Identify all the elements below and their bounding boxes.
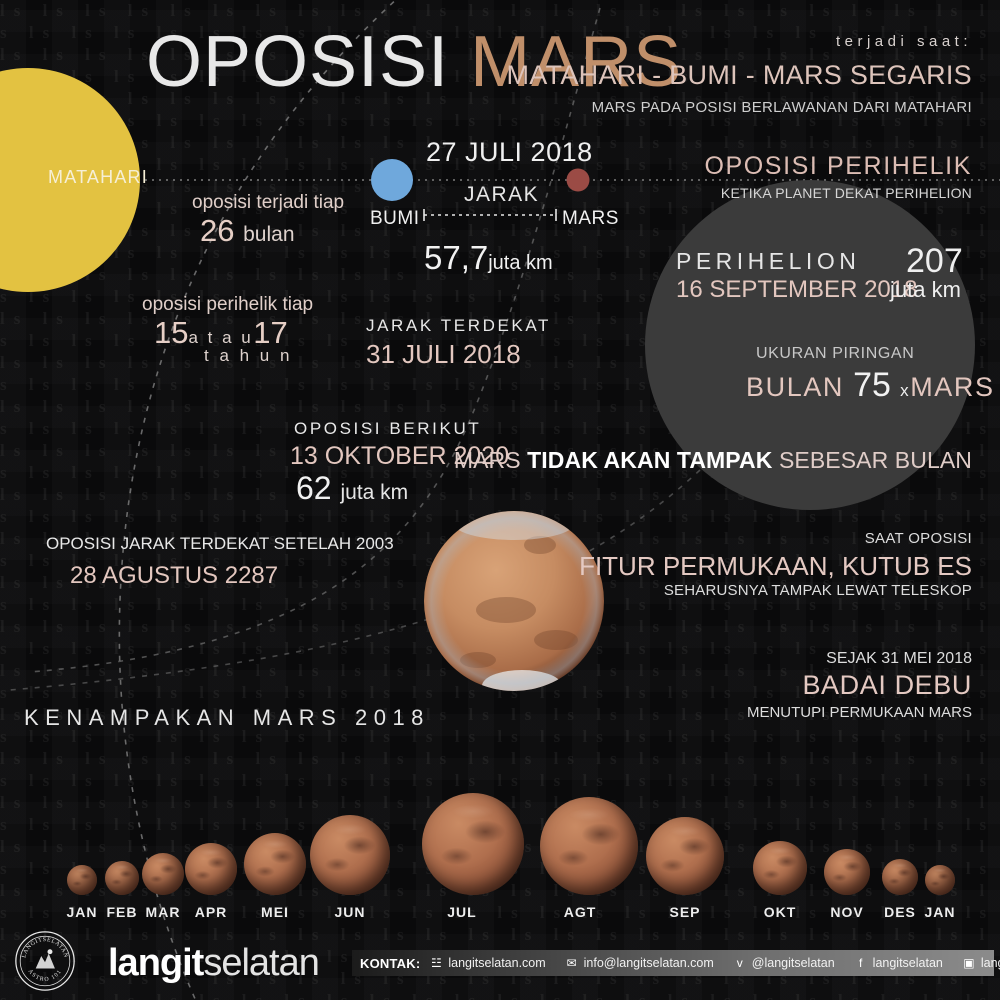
contact-item[interactable]: ☳langitselatan.com: [429, 956, 545, 970]
mars-disc: [925, 865, 955, 895]
kontak-label: KONTAK:: [360, 956, 420, 971]
rss-icon: ☳: [429, 956, 443, 970]
contact-text: langitselatan.com: [448, 956, 545, 970]
surface-features-heading: FITUR PERMUKAAN, KUTUB ES: [579, 551, 972, 582]
contact-item[interactable]: ▣langitselatanmedia: [962, 956, 1000, 970]
contact-item[interactable]: ᴠ@langitselatan: [733, 956, 835, 970]
logo-ring-top-text: LANGITSELATAN: [21, 937, 68, 959]
mail-icon: ✉: [565, 956, 579, 970]
month-slot: JUN: [310, 815, 390, 920]
mars-disc: [185, 843, 237, 895]
langitselatan-logo-icon: LANGITSELATAN ASTRO 101: [14, 930, 76, 992]
mars-disc: [540, 797, 638, 895]
month-slot: JAN: [900, 865, 980, 920]
contact-text: langitselatanmedia: [981, 956, 1000, 970]
mars-disc: [646, 817, 724, 895]
month-label: MEI: [235, 904, 315, 920]
dust-storm-sub: MENUTUPI PERMUKAAN MARS: [747, 704, 972, 721]
contact-text: @langitselatan: [752, 956, 835, 970]
month-slot: SEP: [645, 817, 725, 920]
mars-disc: [310, 815, 390, 895]
surface-features-sub: SEHARUSNYA TAMPAK LEWAT TELESKOP: [664, 582, 972, 599]
mars-disc: [753, 841, 807, 895]
contact-item[interactable]: flangitselatan: [854, 956, 943, 970]
infographic-poster: ls ls ls ls ls ls ls ls ls ls ls ls ls l…: [0, 0, 1000, 1000]
logo-ring-bottom-text: ASTRO 101: [27, 968, 64, 983]
brand-part-1: langit: [108, 942, 203, 984]
contact-item[interactable]: ✉info@langitselatan.com: [565, 956, 714, 970]
mars-disc: [422, 793, 524, 895]
contact-bar: KONTAK: ☳langitselatan.com✉info@langitse…: [352, 950, 994, 976]
contact-items: ☳langitselatan.com✉info@langitselatan.co…: [429, 956, 1000, 970]
month-label: JUL: [422, 904, 502, 920]
month-label: SEP: [645, 904, 725, 920]
contact-text: info@langitselatan.com: [584, 956, 714, 970]
instagram-icon: ▣: [962, 956, 976, 970]
mars-disc: [244, 833, 306, 895]
appearance-title: KENAMPAKAN MARS 2018: [24, 705, 430, 731]
mars-size-timeline: JANFEBMARAPRMEIJUNJULAGTSEPOKTNOVDESJAN: [0, 760, 1000, 920]
brand-part-2: selatan: [203, 942, 319, 984]
svg-text:ASTRO 101: ASTRO 101: [27, 968, 64, 983]
month-label: JAN: [900, 904, 980, 920]
brand-wordmark: langitselatan: [108, 942, 319, 985]
dust-storm-eyebrow: SEJAK 31 MEI 2018: [826, 650, 972, 668]
month-slot: JUL: [422, 793, 502, 920]
month-slot: MEI: [235, 833, 315, 920]
dust-storm-heading: BADAI DEBU: [802, 670, 972, 701]
surface-features-eyebrow: SAAT OPOSISI: [865, 530, 972, 547]
month-label: AGT: [540, 904, 620, 920]
footer: LANGITSELATAN ASTRO 101 langitselatan KO…: [0, 922, 1000, 1000]
twitter-icon: ᴠ: [733, 956, 747, 970]
month-slot: AGT: [540, 797, 620, 920]
month-label: JUN: [310, 904, 390, 920]
svg-text:LANGITSELATAN: LANGITSELATAN: [21, 937, 68, 959]
contact-text: langitselatan: [873, 956, 943, 970]
facebook-icon: f: [854, 956, 868, 970]
